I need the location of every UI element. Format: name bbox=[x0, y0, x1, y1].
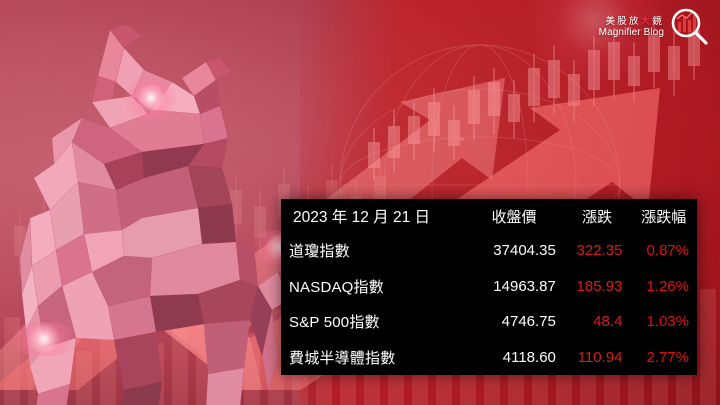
index-change: 322.35 bbox=[564, 233, 631, 269]
index-change: 110.94 bbox=[564, 340, 631, 376]
index-name: S&P 500指數 bbox=[281, 304, 464, 340]
index-close: 4118.60 bbox=[464, 340, 564, 376]
table-row: 費城半導體指數 4118.60 110.94 2.77% bbox=[281, 340, 697, 376]
market-summary-banner: 美股放大鏡 Magnifier Blog bbox=[0, 0, 720, 405]
table-header: 2023 年 12 月 21 日 收盤價 漲跌 漲跌幅 bbox=[281, 199, 697, 233]
column-header-close: 收盤價 bbox=[464, 199, 564, 233]
index-close: 4746.75 bbox=[464, 304, 564, 340]
column-header-date: 2023 年 12 月 21 日 bbox=[281, 199, 464, 233]
logo-name-chinese-prefix: 美股放 bbox=[605, 16, 640, 27]
index-close: 37404.35 bbox=[464, 233, 564, 269]
index-summary-table: 2023 年 12 月 21 日 收盤價 漲跌 漲跌幅 道瓊指數 37404.3… bbox=[281, 199, 697, 375]
index-change: 48.4 bbox=[564, 304, 631, 340]
table-body: 道瓊指數 37404.35 322.35 0.87% NASDAQ指數 1496… bbox=[281, 233, 697, 375]
low-poly-bull-illustration bbox=[0, 18, 312, 405]
table-row: NASDAQ指數 14963.87 185.93 1.26% bbox=[281, 269, 697, 305]
column-header-change-pct: 漲跌幅 bbox=[630, 199, 697, 233]
table-row: 道瓊指數 37404.35 322.35 0.87% bbox=[281, 233, 697, 269]
column-header-change: 漲跌 bbox=[564, 199, 631, 233]
index-name: 費城半導體指數 bbox=[281, 340, 464, 376]
site-logo[interactable]: 美股放大鏡 Magnifier Blog bbox=[599, 6, 712, 50]
logo-text: 美股放大鏡 Magnifier Blog bbox=[599, 17, 666, 38]
table-header-row: 2023 年 12 月 21 日 收盤價 漲跌 漲跌幅 bbox=[281, 199, 697, 233]
index-change: 185.93 bbox=[564, 269, 631, 305]
magnifier-icon bbox=[668, 6, 712, 50]
logo-name-chinese-suffix: 鏡 bbox=[652, 16, 664, 27]
index-change-pct: 0.87% bbox=[630, 233, 697, 269]
index-name: 道瓊指數 bbox=[281, 233, 464, 269]
index-close: 14963.87 bbox=[464, 269, 564, 305]
index-change-pct: 1.03% bbox=[630, 304, 697, 340]
index-name: NASDAQ指數 bbox=[281, 269, 464, 305]
index-change-pct: 1.26% bbox=[630, 269, 697, 305]
logo-name-chinese: 美股放大鏡 bbox=[605, 17, 664, 27]
logo-name-english: Magnifier Blog bbox=[599, 28, 664, 39]
index-summary-panel: 2023 年 12 月 21 日 收盤價 漲跌 漲跌幅 道瓊指數 37404.3… bbox=[281, 199, 697, 375]
table-row: S&P 500指數 4746.75 48.4 1.03% bbox=[281, 304, 697, 340]
logo-name-chinese-highlight: 大 bbox=[641, 16, 653, 27]
index-change-pct: 2.77% bbox=[630, 340, 697, 376]
